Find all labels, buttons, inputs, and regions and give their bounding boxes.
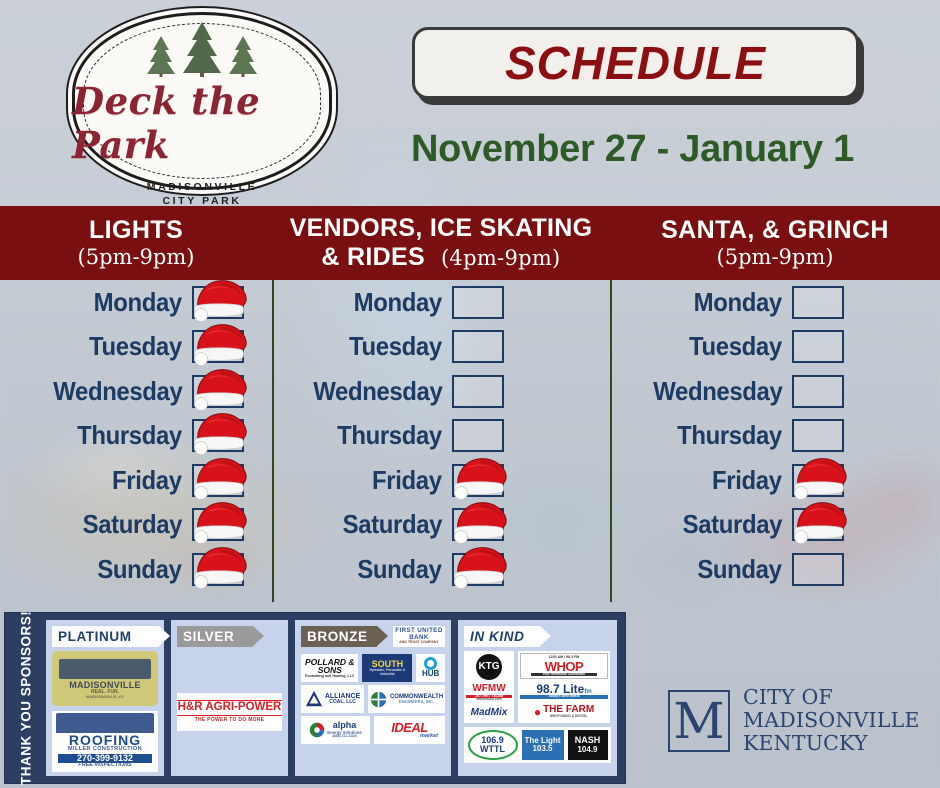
sponsor-logo-whop-name: WHOP	[545, 660, 583, 673]
sponsor-logo-madmix: MadMix	[466, 705, 512, 721]
day-label: Tuesday	[349, 331, 442, 362]
checkbox-checked[interactable]	[192, 330, 244, 363]
checkbox-unchecked[interactable]	[452, 375, 504, 408]
day-row: Friday	[274, 458, 610, 503]
availability-checkbox-wrap[interactable]	[192, 508, 258, 541]
city-monogram-icon: M	[668, 690, 730, 752]
day-label: Saturday	[683, 509, 782, 540]
sponsor-logo-roofing-sub2: FREE INSPECTIONS	[78, 763, 131, 769]
sponsor-logo-whop: 1230 AM / 98.3 FM WHOP Your Hometown Con…	[520, 653, 608, 679]
sponsor-logo-the-farm: ● THE FARM WHOP RADIO & DIGITAL	[520, 703, 608, 721]
day-row: Monday	[0, 280, 272, 325]
availability-checkbox-wrap[interactable]	[452, 286, 518, 319]
santa-hat-icon	[190, 455, 254, 501]
checkbox-checked[interactable]	[192, 375, 244, 408]
santa-hat-icon	[450, 544, 514, 590]
sponsor-logo-alliance-coal: ALLIANCE COAL, LLC	[301, 685, 364, 713]
sponsor-logo-hr-agripower: H&R AGRI-POWER THE POWER TO DO MORE	[177, 693, 282, 731]
availability-checkbox-wrap[interactable]	[192, 553, 258, 586]
day-label: Monday	[694, 287, 782, 318]
city-logo-line2: MADISONVILLE	[743, 709, 920, 732]
sponsor-logo-whop-sub2: Your Hometown Connection	[531, 673, 596, 676]
day-label: Saturday	[343, 509, 442, 540]
sponsor-logo-south: SOUTH Hydraulic, Pneumatic & Industrial	[362, 654, 412, 682]
sponsor-logo-987-lite-sub: fm	[584, 689, 591, 695]
day-row: Wednesday	[274, 369, 610, 414]
sponsor-logo-first-united-bank-sub: AND TRUST COMPANY	[399, 641, 439, 645]
sponsor-logo-the-farm-sub: WHOP RADIO & DIGITAL	[543, 715, 594, 718]
santa-hat-icon	[790, 499, 854, 545]
day-label: Friday	[712, 465, 782, 496]
logo-script-text: Deck the Park	[72, 79, 332, 167]
day-label: Wednesday	[313, 376, 442, 407]
sponsor-logo-the-light-1035-name: The Light 103.5	[522, 737, 564, 754]
day-row: Thursday	[0, 414, 272, 459]
santa-hat-icon	[190, 321, 254, 367]
day-label: Sunday	[98, 554, 182, 585]
santa-hat-icon	[190, 277, 254, 323]
sponsor-logo-madisonville: MADISONVILLE REAL. FUN. MADISONVILLE, KY	[52, 651, 158, 706]
checkbox-checked[interactable]	[192, 286, 244, 319]
sponsor-logo-madisonville-sub2: MADISONVILLE, KY	[52, 695, 158, 699]
alliance-triangle-icon	[305, 690, 323, 708]
sponsor-logo-roofing: ROOFING MILLER CONSTRUCTION 270-399-9132…	[52, 711, 158, 772]
ribbon-silver-label: SILVER	[183, 629, 234, 644]
day-row: Tuesday	[0, 325, 272, 370]
availability-checkbox-wrap[interactable]	[792, 508, 858, 541]
sponsor-logo-roofing-name: ROOFING	[69, 733, 141, 747]
schedule-column-santa: MondayTuesdayWednesdayThursdayFridaySatu…	[612, 280, 940, 602]
day-row: Sunday	[0, 547, 272, 592]
thank-you-sponsors-label: THANK YOU SPONSORS!	[13, 620, 39, 776]
day-label: Monday	[94, 287, 182, 318]
sponsor-tier-bronze: BRONZE FIRST UNITED BANK AND TRUST COMPA…	[295, 620, 451, 776]
sponsor-logo-ktg: KTG	[467, 653, 511, 681]
sponsor-logo-ideal-market-name: IDEAL	[391, 721, 428, 734]
checkbox-unchecked[interactable]	[452, 419, 504, 452]
sponsor-logo-1069-wttl-name: 106.9 WTTL	[470, 736, 516, 754]
schedule-grid: MondayTuesdayWednesdayThursdayFridaySatu…	[0, 280, 940, 610]
column-header-santa-title: SANTA, & GRINCH	[661, 216, 889, 244]
ribbon-inkind: IN KIND	[464, 626, 540, 647]
santa-hat-icon	[790, 455, 854, 501]
day-label: Wednesday	[53, 376, 182, 407]
date-range-label: November 27 - January 1	[411, 128, 881, 171]
availability-checkbox-wrap[interactable]	[792, 375, 858, 408]
checkbox-checked[interactable]	[192, 464, 244, 497]
city-logo-line3: KENTUCKY	[743, 732, 920, 755]
checkbox-checked[interactable]	[452, 553, 504, 586]
pine-tree-icon	[144, 22, 260, 78]
sponsor-logo-pollard-sons: POLLARD & SONS Excavating and Hauling, L…	[301, 654, 358, 682]
availability-checkbox-wrap[interactable]	[452, 464, 518, 497]
day-label: Thursday	[337, 420, 442, 451]
page-title: SCHEDULE	[505, 36, 766, 90]
schedule-column-vendors: MondayTuesdayWednesdayThursdayFridaySatu…	[274, 280, 610, 602]
availability-checkbox-wrap[interactable]	[792, 553, 858, 586]
day-row: Saturday	[274, 503, 610, 548]
availability-checkbox-wrap[interactable]	[452, 508, 518, 541]
alpha-swirl-icon	[309, 722, 325, 738]
column-header-santa: SANTA, & GRINCH (5pm-9pm)	[610, 206, 940, 280]
availability-checkbox-wrap[interactable]	[192, 464, 258, 497]
day-label: Thursday	[77, 420, 182, 451]
availability-checkbox-wrap[interactable]	[452, 375, 518, 408]
day-label: Tuesday	[689, 331, 782, 362]
day-row: Wednesday	[612, 369, 940, 414]
sponsor-logo-ideal-market: IDEAL market	[374, 716, 445, 744]
column-header-lights: LIGHTS (5pm-9pm)	[0, 206, 272, 280]
checkbox-checked[interactable]	[452, 464, 504, 497]
availability-checkbox-wrap[interactable]	[452, 419, 518, 452]
availability-checkbox-wrap[interactable]	[792, 419, 858, 452]
tractor-icon: ●	[534, 705, 541, 719]
sponsor-logo-commonwealth: COMMONWEALTH ENGINEERS, INC.	[368, 685, 445, 713]
schedule-poster: Deck the Park MADISONVILLE CITY PARK SCH…	[0, 0, 940, 788]
checkbox-unchecked[interactable]	[792, 330, 844, 363]
sponsor-logo-south-sub: Hydraulic, Pneumatic & Industrial	[362, 669, 412, 676]
santa-hat-icon	[190, 544, 254, 590]
day-row: Saturday	[612, 503, 940, 548]
ribbon-bronze-label: BRONZE	[307, 629, 368, 644]
day-row: Friday	[612, 458, 940, 503]
sponsor-logo-wfmw: WFMW 107.7fm / 730AM wfmwradio.com	[466, 683, 512, 703]
day-label: Wednesday	[653, 376, 782, 407]
schedule-title-plaque: SCHEDULE	[412, 27, 859, 99]
day-row: Thursday	[612, 414, 940, 459]
sponsor-tier-silver: SILVER H&R AGRI-POWER THE POWER TO DO MO…	[171, 620, 288, 776]
availability-checkbox-wrap[interactable]	[192, 419, 258, 452]
column-header-vendors-title-line2: & RIDES	[321, 243, 425, 271]
sponsor-logo-nash-1049: NASH 104.9	[568, 730, 608, 760]
sponsor-logo-roofing-sub: MILLER CONSTRUCTION	[68, 747, 142, 753]
day-row: Monday	[274, 280, 610, 325]
day-label: Thursday	[677, 420, 782, 451]
sponsor-logo-wfmw-name: WFMW	[472, 684, 505, 694]
sponsor-logo-hr-agripower-name: H&R AGRI-POWER	[177, 700, 282, 716]
sponsor-logo-hr-agripower-sub: THE POWER TO DO MORE	[195, 718, 265, 723]
commonwealth-crest-icon	[370, 691, 387, 708]
deck-the-park-logo: Deck the Park MADISONVILLE CITY PARK	[72, 12, 332, 190]
ribbon-silver: SILVER	[177, 626, 253, 647]
availability-checkbox-wrap[interactable]	[192, 286, 258, 319]
sponsor-logo-madmix-name: MadMix	[471, 708, 508, 718]
day-row: Tuesday	[612, 325, 940, 370]
sponsor-logo-ideal-market-sub: market	[420, 734, 438, 740]
day-label: Tuesday	[89, 331, 182, 362]
day-row: Friday	[0, 458, 272, 503]
day-label: Saturday	[83, 509, 182, 540]
sponsors-panel: THANK YOU SPONSORS! PLATINUM MADISONVILL…	[4, 612, 626, 784]
city-of-madisonville-logo: M CITY OF MADISONVILLE KENTUCKY	[668, 686, 920, 755]
city-logo-line1: CITY OF	[743, 686, 920, 709]
sponsor-logo-hub: HUB	[416, 654, 445, 682]
checkbox-unchecked[interactable]	[792, 553, 844, 586]
sponsor-logo-987-lite: 98.7 Lite fm Today's Best Music	[520, 681, 608, 701]
availability-checkbox-wrap[interactable]	[452, 330, 518, 363]
sponsor-logo-wfmw-sub2: wfmwradio.com	[476, 698, 502, 701]
checkbox-checked[interactable]	[792, 508, 844, 541]
availability-checkbox-wrap[interactable]	[792, 464, 858, 497]
day-label: Monday	[354, 287, 442, 318]
day-row: Sunday	[274, 547, 610, 592]
checkbox-unchecked[interactable]	[452, 286, 504, 319]
availability-checkbox-wrap[interactable]	[192, 330, 258, 363]
column-header-vendors-title-line1: VENDORS, ICE SKATING	[290, 214, 593, 243]
sponsor-logo-pollard-sons-sub: Excavating and Hauling, LLC	[305, 675, 355, 679]
sponsor-logo-first-united-bank: FIRST UNITED BANK AND TRUST COMPANY	[393, 626, 445, 647]
day-label: Sunday	[358, 554, 442, 585]
day-row: Saturday	[0, 503, 272, 548]
sponsor-tier-platinum: PLATINUM MADISONVILLE REAL. FUN. MADISON…	[46, 620, 164, 776]
checkbox-checked[interactable]	[452, 508, 504, 541]
sponsor-logo-alliance-coal-sub: COAL, LLC	[325, 700, 360, 705]
column-header-vendors-time: (4pm-9pm)	[441, 246, 561, 270]
day-row: Wednesday	[0, 369, 272, 414]
sponsor-logo-alpha-energy: alpha Energy Solutions (888) 212-6324	[301, 716, 370, 744]
ribbon-inkind-label: IN KIND	[470, 629, 524, 644]
schedule-column-lights: MondayTuesdayWednesdayThursdayFridaySatu…	[0, 280, 272, 602]
sponsor-logo-alpha-energy-phone: (888) 212-6324	[327, 735, 361, 739]
checkbox-checked[interactable]	[192, 419, 244, 452]
santa-hat-icon	[450, 499, 514, 545]
sponsor-logo-1069-wttl: 106.9 WTTL	[468, 730, 518, 760]
santa-hat-icon	[190, 499, 254, 545]
checkbox-unchecked[interactable]	[792, 419, 844, 452]
availability-checkbox-wrap[interactable]	[792, 286, 858, 319]
sponsor-logo-the-light-1035: The Light 103.5	[522, 730, 564, 760]
day-row: Monday	[612, 280, 940, 325]
day-row: Thursday	[274, 414, 610, 459]
ribbon-bronze: BRONZE	[301, 626, 377, 647]
availability-checkbox-wrap[interactable]	[792, 330, 858, 363]
column-header-santa-time: (5pm-9pm)	[717, 244, 834, 270]
checkbox-unchecked[interactable]	[452, 330, 504, 363]
day-label: Friday	[112, 465, 182, 496]
column-header-lights-title: LIGHTS	[89, 216, 183, 244]
checkbox-checked[interactable]	[792, 464, 844, 497]
column-header-lights-time: (5pm-9pm)	[78, 244, 195, 270]
ribbon-platinum: PLATINUM	[52, 626, 159, 647]
santa-hat-icon	[190, 366, 254, 412]
sponsor-logo-ktg-name: KTG	[478, 662, 499, 672]
sponsor-logo-987-lite-sub2: Today's Best Music	[520, 695, 608, 698]
sponsor-tier-inkind: IN KIND KTG WFMW 107.7fm / 730AM wfmwrad…	[458, 620, 617, 776]
sponsor-logo-nash-1049-sub: 104.9	[577, 746, 597, 754]
column-header-vendors: VENDORS, ICE SKATING & RIDES(4pm-9pm)	[272, 206, 610, 280]
sponsor-logo-commonwealth-sub: ENGINEERS, INC.	[390, 700, 443, 704]
availability-checkbox-wrap[interactable]	[192, 375, 258, 408]
checkbox-unchecked[interactable]	[792, 286, 844, 319]
day-label: Sunday	[698, 554, 782, 585]
sponsor-logo-hub-name: HUB	[422, 670, 439, 678]
santa-hat-icon	[450, 455, 514, 501]
column-headers-band: LIGHTS (5pm-9pm) VENDORS, ICE SKATING & …	[0, 206, 940, 280]
checkbox-checked[interactable]	[192, 553, 244, 586]
logo-subtitle-city: MADISONVILLE	[147, 180, 258, 194]
checkbox-unchecked[interactable]	[792, 375, 844, 408]
availability-checkbox-wrap[interactable]	[452, 553, 518, 586]
sponsor-logo-pollard-sons-name: POLLARD & SONS	[301, 658, 358, 675]
day-label: Friday	[372, 465, 442, 496]
ribbon-platinum-label: PLATINUM	[58, 629, 132, 644]
santa-hat-icon	[190, 410, 254, 456]
checkbox-checked[interactable]	[192, 508, 244, 541]
day-row: Tuesday	[274, 325, 610, 370]
day-row: Sunday	[612, 547, 940, 592]
